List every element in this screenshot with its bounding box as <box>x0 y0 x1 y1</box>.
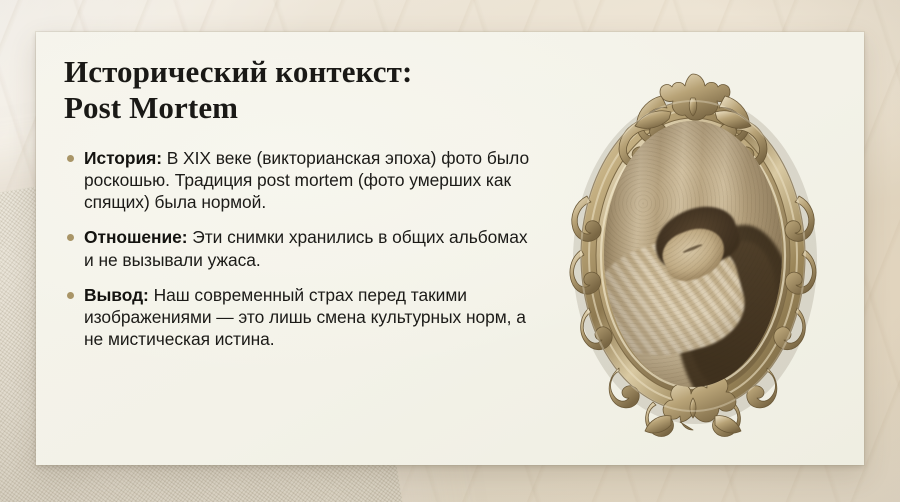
bullet-label: Вывод: <box>84 285 149 305</box>
bullet-label: История: <box>84 148 162 168</box>
list-item: История: В XIX веке (викторианская эпоха… <box>64 147 532 214</box>
bullet-dot-icon <box>67 234 74 241</box>
sepia-photograph <box>604 121 782 387</box>
list-item: Отношение: Эти снимки хранились в общих … <box>64 226 532 271</box>
bullet-dot-icon <box>67 155 74 162</box>
slide-content-column: Исторический контекст: Post Mortem Истор… <box>64 54 532 351</box>
photo-sepia-vignette <box>604 121 782 387</box>
list-item: Вывод: Наш современный страх перед таким… <box>64 284 532 351</box>
bullet-list: История: В XIX веке (викторианская эпоха… <box>64 147 532 351</box>
bullet-text: Наш современный страх перед такими изобр… <box>84 285 526 350</box>
slide-card: Исторический контекст: Post Mortem Истор… <box>36 32 864 465</box>
bullet-label: Отношение: <box>84 227 188 247</box>
framed-photograph <box>545 68 841 440</box>
bullet-dot-icon <box>67 292 74 299</box>
page-title: Исторический контекст: Post Mortem <box>64 54 532 127</box>
